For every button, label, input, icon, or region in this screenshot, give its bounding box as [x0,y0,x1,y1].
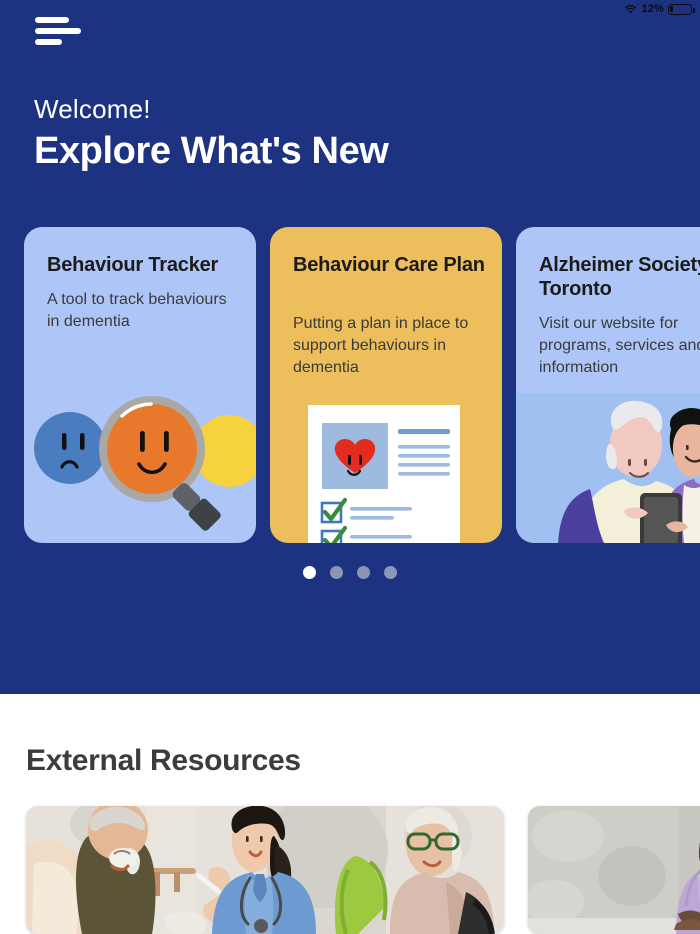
battery-percent-label: 12% [641,3,664,15]
pagination-dot[interactable] [330,566,343,579]
battery-icon [668,4,692,15]
welcome-label: Welcome! [34,94,151,125]
card-description: Visit our website for programs, services… [539,313,700,379]
page-title: Explore What's New [34,130,388,173]
pagination-dot[interactable] [303,566,316,579]
carousel-card-behaviour-care-plan[interactable]: Behaviour Care Plan Putting a plan in pl… [270,227,502,543]
external-resource-card[interactable] [26,806,504,934]
carousel-card-alzheimer-society-toronto[interactable]: Alzheimer Society Toronto Visit our webs… [516,227,700,543]
carousel-pagination[interactable] [0,566,700,579]
card-title: Alzheimer Society Toronto [539,253,700,301]
nurse-with-elderly-patients-photo [26,806,504,934]
faces-magnifier-illustration [24,393,256,543]
care-plan-document-illustration [270,393,502,543]
card-title: Behaviour Tracker [47,253,240,277]
external-resource-card[interactable] [528,806,700,934]
external-resources-title: External Resources [26,744,301,778]
hero-section: 12% Welcome! Explore What's New Behaviou… [0,0,700,694]
status-bar: 12% [0,0,700,18]
card-title: Behaviour Care Plan [293,253,486,277]
hamburger-menu-icon[interactable] [35,17,81,45]
pagination-dot[interactable] [357,566,370,579]
feature-carousel[interactable]: Behaviour Tracker A tool to track behavi… [0,227,700,543]
carousel-card-behaviour-tracker[interactable]: Behaviour Tracker A tool to track behavi… [24,227,256,543]
card-description: A tool to track behaviours in dementia [47,289,242,333]
two-women-smartphone-illustration [516,393,700,543]
pagination-dot[interactable] [384,566,397,579]
caregiver-lavender-uniform-photo [528,806,700,934]
wifi-icon [624,4,637,15]
card-description: Putting a plan in place to support behav… [293,313,488,379]
